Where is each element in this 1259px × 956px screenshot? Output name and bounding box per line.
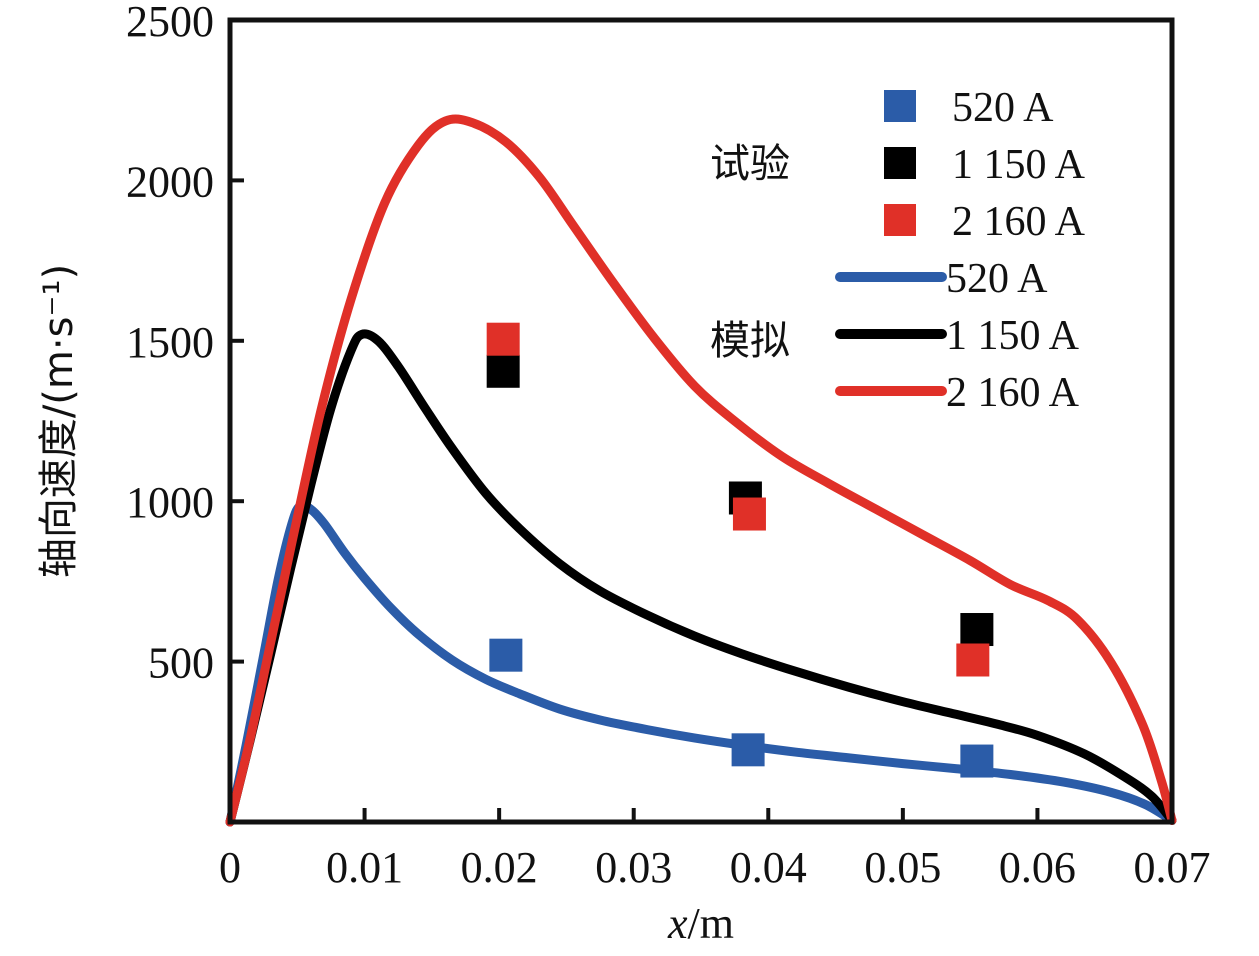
legend-label: 520 A <box>952 85 1054 131</box>
legend-marker-swatch <box>884 147 916 179</box>
x-axis-title-symbol: x <box>667 899 688 948</box>
x-tick-label: 0 <box>219 843 241 892</box>
x-tick-label: 0.05 <box>864 843 941 892</box>
y-tick-label: 2000 <box>126 157 214 206</box>
x-axis-title: x/m <box>667 899 734 948</box>
legend-group-label-simulation: 模拟 <box>710 318 790 364</box>
legend-marker-swatch <box>884 90 916 122</box>
y-tick-label: 2500 <box>126 0 214 46</box>
marker-exp-2160A-1 <box>733 498 766 531</box>
marker-exp-2160A-0 <box>487 323 520 356</box>
plot-frame <box>230 20 1172 822</box>
marker-exp-2160A-2 <box>956 644 989 677</box>
legend-marker-swatch <box>884 204 916 236</box>
legend-label: 2 160 A <box>952 199 1086 245</box>
y-tick-label: 1000 <box>126 478 214 527</box>
legend-label: 2 160 A <box>946 370 1080 416</box>
x-tick-label: 0.02 <box>461 843 538 892</box>
marker-exp-520A-1 <box>732 733 765 766</box>
y-tick-label: 500 <box>148 639 214 688</box>
y-axis-title: 轴向速度/(m·s⁻¹) <box>36 264 82 578</box>
marker-exp-1150A-2 <box>960 613 993 646</box>
y-axis-ticks: 5001000150020002500 <box>126 0 244 688</box>
x-tick-label: 0.04 <box>730 843 807 892</box>
marker-exp-520A-2 <box>960 745 993 778</box>
legend-label: 520 A <box>946 256 1048 302</box>
marker-exp-1150A-0 <box>487 355 520 388</box>
x-tick-label: 0.06 <box>999 843 1076 892</box>
legend-group-label-experiment: 试验 <box>710 141 790 187</box>
x-tick-label: 0.01 <box>326 843 403 892</box>
axial-velocity-chart: 00.010.020.030.040.050.060.07 5001000150… <box>0 0 1259 956</box>
chart-figure: 00.010.020.030.040.050.060.07 5001000150… <box>0 0 1259 956</box>
x-tick-label: 0.03 <box>595 843 672 892</box>
chart-legend: 520 A1 150 A2 160 A520 A1 150 A2 160 A试验… <box>710 85 1086 416</box>
marker-exp-520A-0 <box>489 639 522 672</box>
legend-label: 1 150 A <box>946 313 1080 359</box>
curve-sim-520A <box>230 505 1172 822</box>
x-axis-title-unit: /m <box>688 899 734 948</box>
y-tick-label: 1500 <box>126 318 214 367</box>
legend-label: 1 150 A <box>952 142 1086 188</box>
x-tick-label: 0.07 <box>1134 843 1211 892</box>
